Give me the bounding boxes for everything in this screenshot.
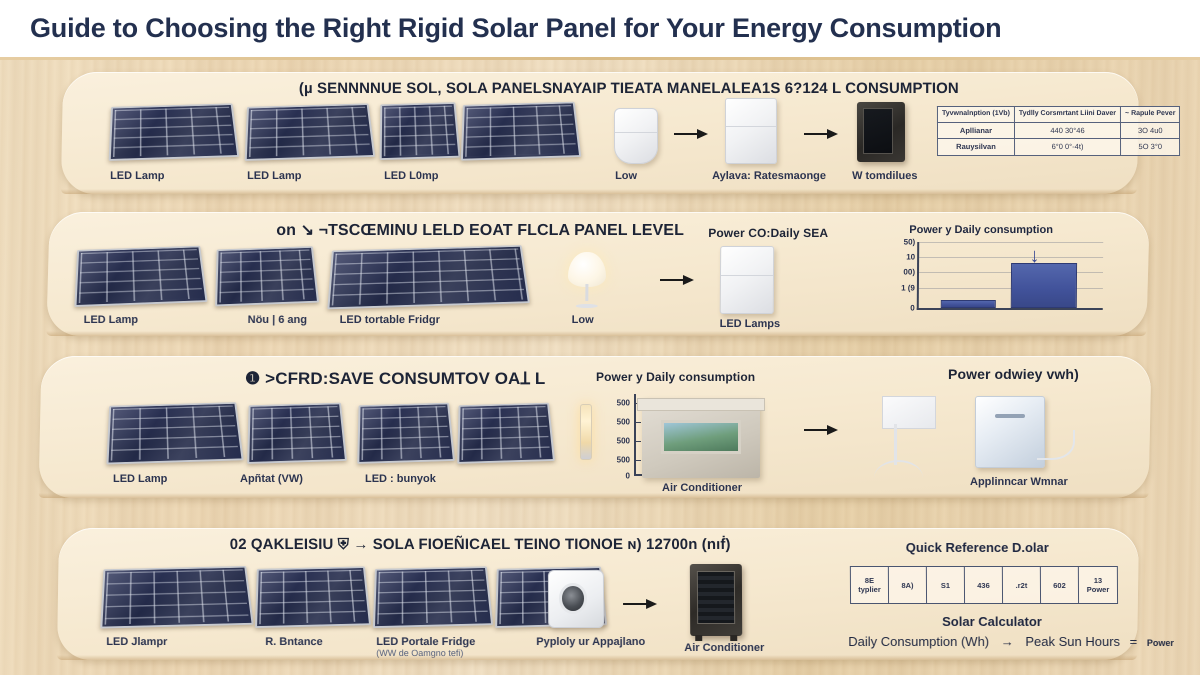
tripod-lamp-icon: [870, 396, 936, 478]
y-tick-label: 00): [903, 268, 915, 277]
panel-sheen: [463, 103, 579, 158]
item-label: W tomdilues: [852, 170, 917, 182]
qr-cell: 13 Power: [1079, 567, 1117, 603]
item-label: Air Conditioner: [662, 482, 742, 494]
qr-cell-top: 436: [977, 581, 990, 590]
quick-reference-title: Quick Reference D.olar: [906, 540, 1049, 555]
table-cell: 3O 4u0: [1121, 122, 1180, 138]
arrow-right-icon: [804, 128, 838, 140]
qr-cell: S1: [927, 567, 965, 603]
bar-chart: Power y Daily consumption 50) 10 00) 1 (…: [893, 224, 1104, 324]
item-label: LED Lamps: [720, 318, 781, 330]
qr-cell-bottom: typlier: [858, 585, 881, 594]
item-label: LED tortable Fridgr: [340, 314, 440, 326]
item-label: LED Lamp: [247, 170, 301, 182]
solar-calculator-formula: Daily Consumption (Wh) → Peak Sun Hours …: [848, 634, 1174, 649]
y-tick-label: 500: [617, 417, 630, 426]
item-label: LED : bunyok: [365, 473, 436, 485]
panel-sheen: [109, 404, 242, 463]
qr-cell-top: 13: [1094, 576, 1102, 585]
qr-cell: 8A): [889, 567, 927, 603]
item-label: Air Conditioner: [684, 642, 764, 654]
item-label: LED Lamp: [113, 473, 167, 485]
item-label: Apñtat (VW): [240, 473, 303, 485]
panel-row-2: on ↘ ¬TSCŒMINU LELD EOAT FLCLA PANEL LEV…: [46, 212, 1149, 336]
blue-cabinet-icon: [975, 396, 1045, 468]
item-label: Nöu | 6 ang: [248, 314, 307, 326]
chart-caption-title: Power y Daily consumption: [596, 370, 755, 384]
solar-panel: [215, 246, 319, 306]
panel-sheen: [459, 404, 552, 462]
y-axis-line: [634, 394, 636, 476]
solar-panel: [373, 566, 493, 628]
equals-glyph: =: [1130, 634, 1138, 649]
solar-panel: [247, 403, 347, 464]
table-cell: Rauysilvan: [938, 139, 1015, 155]
speaker-body: [614, 108, 658, 164]
table-row: Rauysilvan 6°0 0°-4t) 5O 3°0: [938, 139, 1180, 155]
row-4-heading: 02 QAKLEISIU ⛨ → SOLA FIOEÑICAEL TEINO T…: [230, 536, 731, 553]
table-cell: 6°0 0°-4t): [1014, 139, 1120, 155]
row-3-heading: ❶ >CFRD:SAVE CONSUMTOV OAꞱ L: [245, 366, 545, 389]
panel-sheen: [382, 104, 459, 158]
qr-cell-top: 602: [1053, 581, 1066, 590]
item-label: LED Lamp: [84, 314, 138, 326]
item-label: LED Portale Fridge: [376, 636, 475, 648]
panel-sheen: [77, 247, 206, 305]
title-bar: Guide to Choosing the Right Rigid Solar …: [0, 0, 1200, 57]
item-label: LED Lamp: [110, 170, 164, 182]
table-cell: 440 30°46: [1014, 122, 1120, 138]
panel-sheen: [330, 247, 528, 308]
arrow-right-icon: [660, 274, 694, 286]
table-cell: Apllianar: [937, 122, 1014, 138]
rack-foot: [695, 635, 702, 641]
gridline: [919, 242, 1103, 243]
lamp-shade: [568, 252, 606, 287]
panel-sheen: [359, 404, 452, 462]
item-label: Pyploly ur Appajlano: [536, 636, 645, 648]
appliance-body: [857, 102, 905, 162]
power-cord: [1037, 430, 1075, 460]
arrow-right-icon: [804, 424, 838, 436]
server-rack-icon: [690, 564, 742, 636]
table-header-row: Tyvwnalnption (1Vb) Tydlly Corsmrtant Li…: [937, 107, 1179, 123]
seam: [721, 275, 773, 276]
formula-mid: Peak Sun Hours: [1025, 634, 1120, 649]
qr-cell-top: 8A): [901, 581, 913, 590]
formula-right: Power: [1147, 638, 1174, 648]
table-lamp-icon: [568, 252, 606, 308]
y-tick-label: 500: [617, 455, 630, 464]
solar-panel: [109, 103, 240, 161]
dark-appliance-icon: [857, 102, 905, 162]
item-label-sub: (WW de Oamgno tefi): [376, 648, 463, 658]
solar-panel: [380, 102, 461, 160]
panel-sheen: [249, 404, 345, 462]
rack-body: [690, 564, 742, 636]
consumption-table: Tyvwnalnption (1Vb) Tydlly Corsmrtant Li…: [937, 106, 1181, 156]
arrow-right-icon: [623, 598, 657, 610]
arrow-right-glyph: →: [1001, 634, 1014, 649]
chart-annotation: ↓: [1029, 245, 1039, 268]
item-label: Aylava: Ratesmaonge: [712, 170, 826, 182]
qr-cell-top: 8E: [865, 576, 874, 585]
white-fridge-icon: [720, 246, 774, 314]
table-header-cell: ~ Rapule Pever: [1121, 107, 1180, 123]
chart-title: Power y Daily consumption: [909, 224, 1053, 236]
fridge-body: [720, 246, 774, 314]
qr-cell: 436: [965, 567, 1003, 603]
panel-row-3: ❶ >CFRD:SAVE CONSUMTOV OAꞱ L LED Lamp Ap…: [39, 356, 1152, 498]
tube-lamp-body: [580, 404, 592, 460]
bar-series-1: [1011, 263, 1078, 308]
tick-mark: [634, 460, 641, 461]
tick-mark: [634, 422, 641, 423]
panel-sheen: [102, 568, 251, 627]
item-label: Applinncar Wmnar: [970, 476, 1068, 488]
qr-cell: 602: [1041, 567, 1079, 603]
y-tick-label: 50): [904, 238, 916, 247]
infographic-page: Guide to Choosing the Right Rigid Solar …: [0, 0, 1200, 675]
speaker-body: [548, 570, 604, 628]
screen: [863, 108, 894, 154]
panel-sheen: [375, 568, 491, 626]
window-view: [661, 420, 741, 454]
panel-row-4: 02 QAKLEISIU ⛨ → SOLA FIOEÑICAEL TEINO T…: [57, 528, 1139, 660]
y-tick-label: 10: [906, 253, 915, 262]
item-label: Low: [572, 314, 594, 326]
solar-panel: [245, 103, 376, 161]
rack-grill: [697, 571, 735, 624]
qr-cell: 8E typlier: [851, 567, 889, 603]
solar-panel: [457, 403, 555, 464]
seam: [615, 132, 657, 133]
item-label: LED Jlampr: [106, 636, 167, 648]
tick-mark: [634, 441, 641, 442]
cabinet-body: [975, 396, 1045, 468]
fireplace-body: [642, 398, 760, 478]
qr-cell-bottom: Power: [1087, 585, 1110, 594]
appliance-caption-title: Power odwiey vwh): [948, 366, 1079, 382]
appliance-caption-title: Power CO:Daily SEA: [708, 226, 828, 240]
lamp-pole: [894, 424, 897, 465]
bar-series-0: [941, 300, 996, 308]
table-row: Apllianar 440 30°46 3O 4u0: [937, 122, 1179, 138]
y-tick-label: 500: [617, 399, 630, 408]
y-tick-label: 0: [626, 472, 630, 481]
lamp-legs: [874, 460, 923, 478]
page-title: Guide to Choosing the Right Rigid Solar …: [30, 13, 1001, 44]
panel-sheen: [257, 568, 369, 626]
table-header-cell: Tyvwnalnption (1Vb): [937, 107, 1014, 123]
solar-panel: [327, 245, 530, 309]
row-2-heading: on ↘ ¬TSCŒMINU LELD EOAT FLCLA PANEL LEV…: [276, 220, 684, 240]
arrow-right-icon: [674, 128, 708, 140]
qr-cell-top: .r2t: [1016, 581, 1028, 590]
speaker-icon: [548, 570, 604, 628]
seam: [726, 126, 776, 127]
white-cabinet-icon: [725, 98, 777, 164]
lamp-head: [882, 396, 936, 429]
tube-lamp-icon: [580, 404, 592, 460]
lamp-stem: [585, 284, 588, 301]
speaker-cone: [559, 583, 587, 613]
lamp-base: [576, 304, 598, 308]
item-label: Low: [615, 170, 637, 182]
item-label: R. Bntance: [265, 636, 323, 648]
table-header-cell: Tydlly Corsmrtant Liini Daver: [1014, 107, 1120, 123]
solar-panel: [461, 102, 582, 161]
item-label: LED L0mp: [384, 170, 438, 182]
y-tick-label: 0: [910, 304, 915, 313]
solar-calculator-title: Solar Calculator: [942, 614, 1042, 629]
solar-panel: [106, 402, 243, 464]
panel-sheen: [247, 105, 373, 159]
solar-panel: [357, 403, 455, 464]
panel-sheen: [111, 105, 237, 159]
qr-cell: .r2t: [1003, 567, 1041, 603]
table-cell: 5O 3°0: [1121, 139, 1180, 155]
formula-left: Daily Consumption (Wh): [848, 634, 989, 649]
panel-sheen: [217, 248, 317, 305]
quick-reference-table: 8E typlier 8A) S1 436 .r2t 602: [850, 566, 1118, 604]
qr-cell-top: S1: [941, 581, 950, 590]
mantel: [637, 398, 764, 411]
solar-panel: [100, 566, 254, 629]
gridline: [919, 257, 1103, 258]
panel-row-1: (µ SENNNNUE SOL, SOLA PANELSNAYAIP TIEAT…: [61, 72, 1139, 194]
chart-plot-area: 50) 10 00) 1 (9 0 ↓: [917, 242, 1103, 310]
solar-panel: [74, 246, 207, 307]
row-1-heading: (µ SENNNNUE SOL, SOLA PANELSNAYAIP TIEAT…: [299, 80, 959, 97]
cabinet-body: [725, 98, 777, 164]
handle: [995, 414, 1025, 418]
solar-panel: [255, 566, 371, 628]
rack-foot: [730, 635, 737, 641]
speaker-icon: [614, 108, 658, 164]
fireplace-icon: [642, 398, 760, 478]
y-tick-label: 1 (9: [901, 283, 915, 292]
y-tick-label: 500: [617, 436, 630, 445]
